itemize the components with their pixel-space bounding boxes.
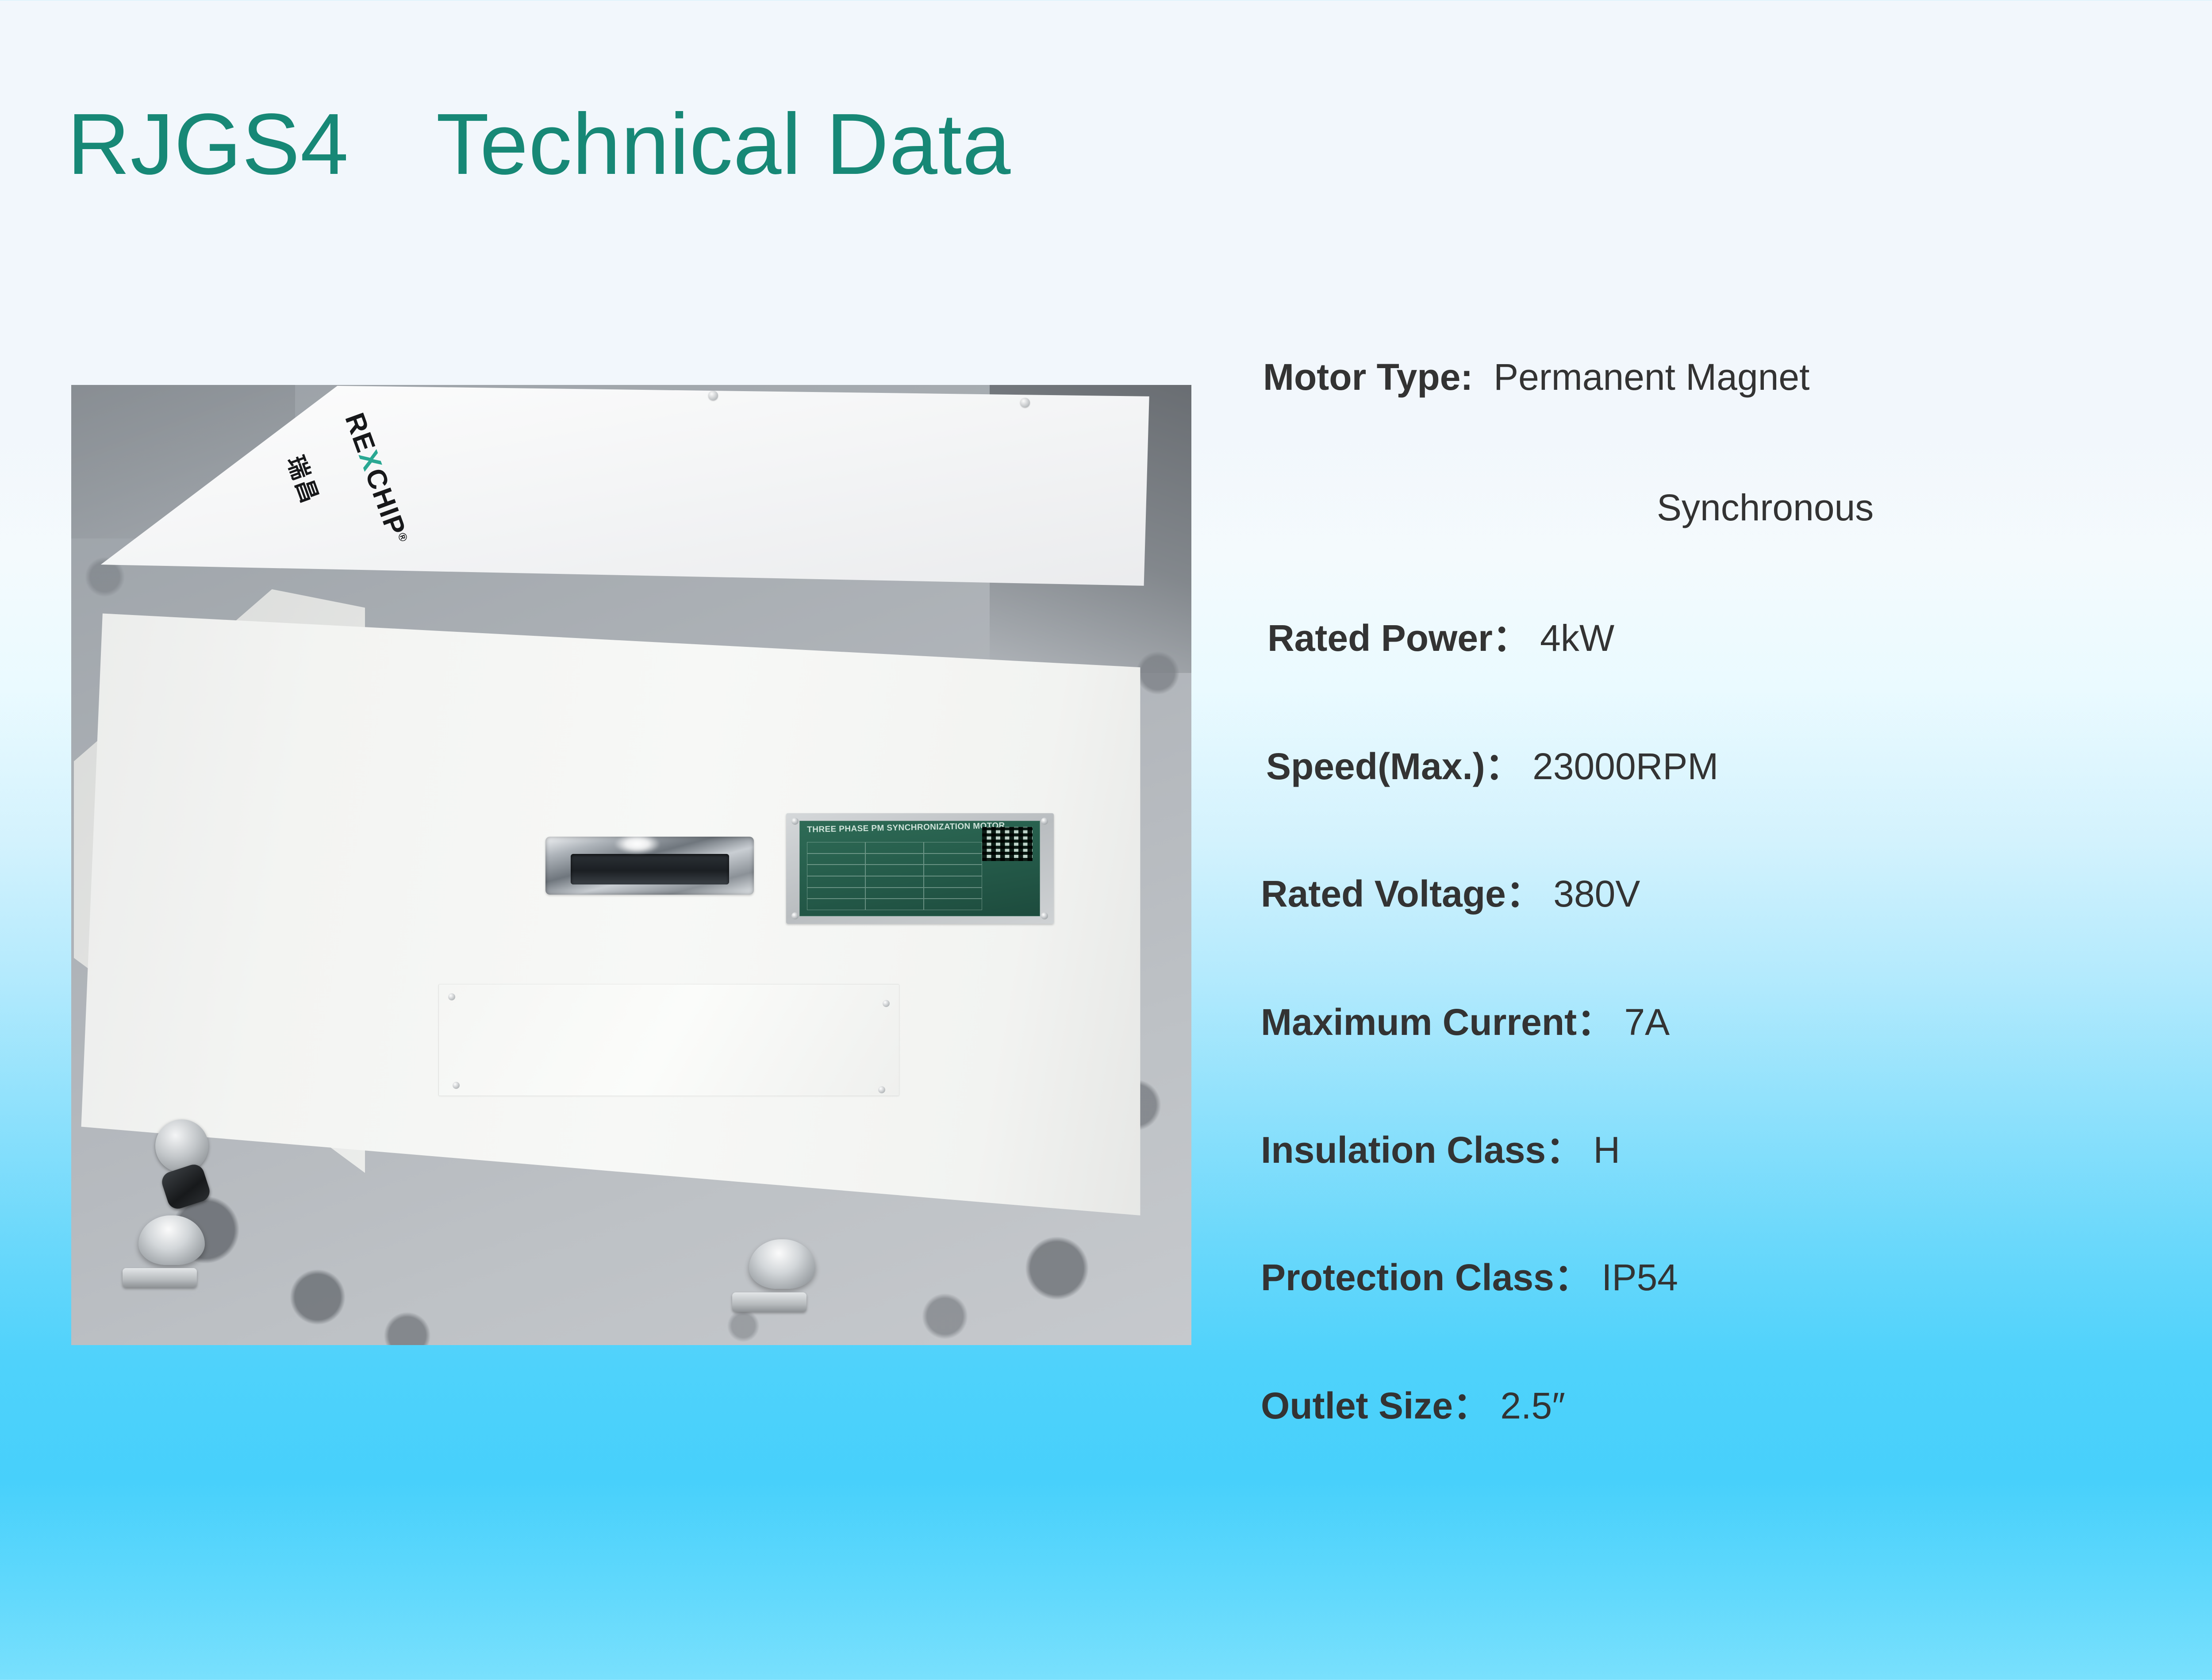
spec-spacer — [1530, 617, 1540, 659]
recessed-handle — [545, 837, 754, 895]
spec-row-protection-class: Protection Class： IP54 — [1261, 1259, 1678, 1296]
spec-row-insulation-class: Insulation Class： H — [1261, 1131, 1620, 1169]
spec-value: 2.5″ — [1500, 1385, 1565, 1426]
nameplate-title: THREE PHASE PM SYNCHRONIZATION MOTOR — [807, 821, 1005, 834]
specular-highlight — [614, 834, 661, 854]
spec-label: Outlet Size： — [1261, 1385, 1490, 1426]
spec-value: 380V — [1553, 873, 1640, 915]
spec-value-line2: Synchronous — [1657, 487, 1874, 528]
spec-row-maximum-current: Maximum Current： 7A — [1261, 1003, 1670, 1041]
spec-label: Motor Type: — [1263, 356, 1473, 398]
screw-icon — [448, 993, 455, 1000]
screw-icon — [1020, 398, 1030, 408]
spec-value: IP54 — [1601, 1257, 1678, 1298]
spec-spacer — [1543, 873, 1553, 915]
spec-label: Rated Power： — [1267, 617, 1530, 659]
screw-icon — [878, 1086, 885, 1093]
screw-icon — [708, 391, 718, 400]
nameplate-spec-grid — [807, 842, 982, 910]
handle-slot — [571, 854, 729, 884]
spec-value: Permanent Magnet — [1494, 356, 1809, 398]
screw-icon — [791, 818, 799, 825]
mounting-foot-plate — [123, 1268, 197, 1288]
nameplate-face: THREE PHASE PM SYNCHRONIZATION MOTOR — [799, 821, 1040, 916]
spec-spacer — [1522, 746, 1532, 787]
screw-icon — [1041, 818, 1048, 825]
slide-canvas: RJGS4 Technical Data REXCHIP® 瑞昌 — [0, 0, 2212, 1680]
spec-value: 4kW — [1540, 617, 1614, 659]
spec-row-outlet-size: Outlet Size： 2.5″ — [1261, 1387, 1565, 1424]
product-photo: REXCHIP® 瑞昌 THREE PHASE PM SYNCHRONIZATI… — [71, 385, 1191, 1345]
spec-label: Insulation Class： — [1261, 1129, 1583, 1171]
screw-icon — [791, 912, 799, 919]
spec-row-speed-max: Speed(Max.)： 23000RPM — [1266, 748, 1718, 785]
screw-icon — [1041, 912, 1048, 919]
spec-label: Speed(Max.)： — [1266, 746, 1522, 787]
spec-spacer — [1591, 1257, 1601, 1298]
spec-spacer — [1614, 1001, 1624, 1043]
spec-spacer — [1490, 1385, 1500, 1426]
screw-icon — [883, 1000, 890, 1007]
spec-value: H — [1594, 1129, 1621, 1171]
spec-spacer — [1583, 1129, 1593, 1171]
motor-nameplate: THREE PHASE PM SYNCHRONIZATION MOTOR — [786, 813, 1054, 924]
access-panel — [438, 984, 899, 1096]
spec-value: 7A — [1624, 1001, 1670, 1043]
spec-row-rated-voltage: Rated Voltage： 380V — [1261, 875, 1640, 912]
spec-value: 23000RPM — [1532, 746, 1718, 787]
spec-spacer — [1473, 356, 1494, 398]
spec-row-motor-type-cont: Synchronous — [1657, 489, 1874, 526]
spec-label: Protection Class： — [1261, 1257, 1591, 1298]
machine-front-face: THREE PHASE PM SYNCHRONIZATION MOTOR — [75, 582, 1144, 1215]
power-connector — [155, 1119, 208, 1173]
page-title: RJGS4 Technical Data — [67, 101, 1011, 188]
spec-row-rated-power: Rated Power： 4kW — [1267, 619, 1614, 657]
mounting-foot-plate — [732, 1292, 806, 1312]
qr-code-icon — [982, 827, 1033, 861]
spec-label: Maximum Current： — [1261, 1001, 1614, 1043]
screw-icon — [453, 1082, 460, 1089]
spec-row-motor-type: Motor Type: Permanent Magnet — [1263, 358, 1810, 396]
spec-label: Rated Voltage： — [1261, 873, 1543, 915]
mounting-foot — [138, 1215, 205, 1265]
mounting-foot — [749, 1239, 815, 1289]
